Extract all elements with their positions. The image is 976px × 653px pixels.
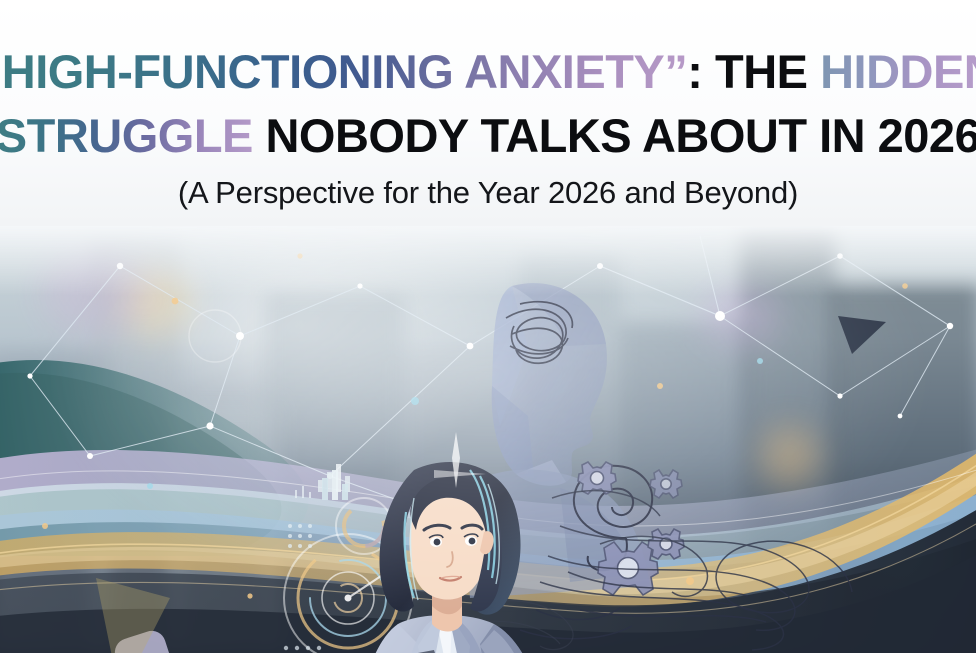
- header: “HIGH-FUNCTIONING ANXIETY”: THE HIDDEN S…: [0, 0, 976, 226]
- title-part-the: : THE: [687, 45, 820, 98]
- banner: “HIGH-FUNCTIONING ANXIETY”: THE HIDDEN S…: [0, 0, 976, 653]
- hero-illustration: [0, 226, 976, 653]
- page-title-line-1: “HIGH-FUNCTIONING ANXIETY”: THE HIDDEN: [0, 48, 976, 95]
- page-title-line-2: STRUGGLE NOBODY TALKS ABOUT IN 2026: [0, 112, 976, 159]
- businesswoman-figure: [0, 226, 976, 653]
- title-part-anxiety: “HIGH-FUNCTIONING ANXIETY”: [0, 45, 687, 98]
- title-part-nobody-talks: NOBODY TALKS ABOUT IN 2026: [253, 109, 976, 162]
- title-part-struggle: STRUGGLE: [0, 109, 253, 162]
- title-part-hidden: HIDDEN: [820, 45, 976, 98]
- page-subtitle: (A Perspective for the Year 2026 and Bey…: [178, 175, 798, 211]
